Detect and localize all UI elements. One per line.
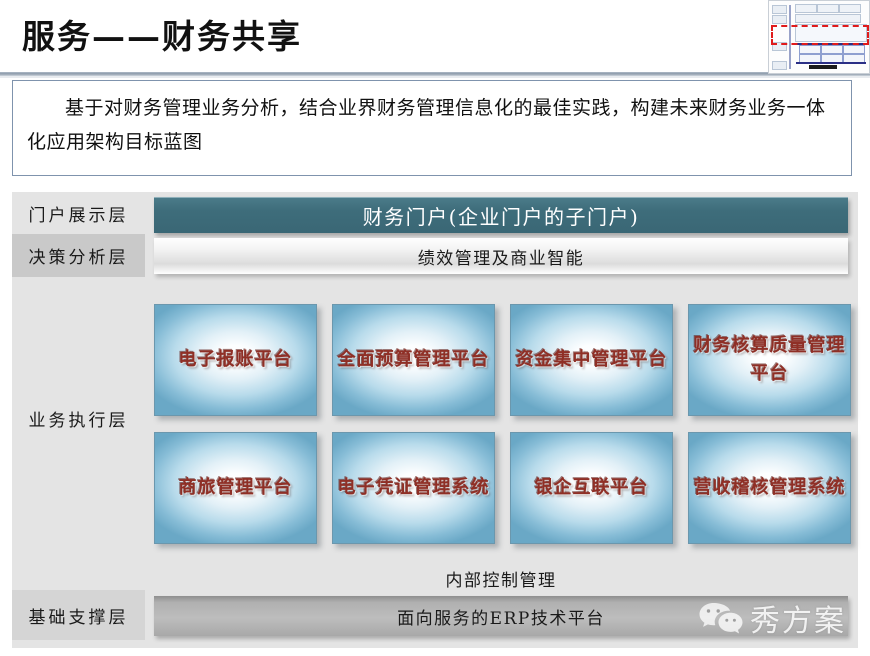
thumbnail-accent bbox=[809, 65, 837, 69]
platform-card[interactable]: 银企互联平台 bbox=[510, 432, 673, 544]
layer-label-business: 业务执行层 bbox=[12, 277, 145, 560]
thumbnail-box bbox=[799, 45, 821, 54]
thumbnail-box bbox=[817, 4, 839, 13]
thumbnail-box bbox=[795, 14, 861, 23]
thumbnail-label bbox=[772, 15, 787, 24]
platform-card[interactable]: 电子报账平台 bbox=[154, 304, 317, 416]
description-box: 基于对财务管理业务分析，结合业界财务管理信息化的最佳实践，构建未来财务业务一体化… bbox=[12, 80, 852, 176]
platform-label: 营收稽核管理系统 bbox=[694, 474, 846, 502]
platform-card[interactable]: 电子凭证管理系统 bbox=[332, 432, 495, 544]
platform-label: 银企互联平台 bbox=[535, 474, 649, 502]
platform-card[interactable]: 资金集中管理平台 bbox=[510, 304, 673, 416]
platform-grid: 电子报账平台 全面预算管理平台 资金集中管理平台 财务核算质量管理平台 商旅管理… bbox=[154, 304, 854, 554]
platform-label: 资金集中管理平台 bbox=[516, 346, 668, 374]
platform-label: 全面预算管理平台 bbox=[338, 346, 490, 374]
thumbnail-box bbox=[795, 4, 817, 13]
platform-label: 电子报账平台 bbox=[179, 346, 293, 374]
slide-preview-thumbnail[interactable] bbox=[768, 0, 870, 74]
platform-card[interactable]: 全面预算管理平台 bbox=[332, 304, 495, 416]
platform-card[interactable]: 营收稽核管理系统 bbox=[688, 432, 851, 544]
layer-label-base: 基础支撑层 bbox=[12, 590, 145, 640]
slide: 服务——财务共享 基于对财务管理业务分析，结合业界财务管理信息化的最佳实践，构建… bbox=[0, 0, 870, 656]
watermark: 秀方案 bbox=[698, 596, 846, 640]
title-divider-shadow bbox=[0, 76, 870, 78]
platform-label: 财务核算质量管理平台 bbox=[689, 332, 850, 388]
thumbnail-label bbox=[772, 61, 787, 70]
thumbnail-box bbox=[821, 45, 843, 54]
platform-card[interactable]: 商旅管理平台 bbox=[154, 432, 317, 544]
architecture-diagram: 门户展示层 决策分析层 业务执行层 基础支撑层 财务门户(企业门户的子门户) 绩… bbox=[12, 192, 858, 648]
layer-label-decision: 决策分析层 bbox=[12, 234, 145, 277]
layer-label-portal: 门户展示层 bbox=[12, 192, 145, 234]
internal-control-bar: 内部控制管理 bbox=[154, 564, 848, 592]
thumbnail-box bbox=[843, 45, 865, 54]
decision-bar[interactable]: 绩效管理及商业智能 bbox=[154, 238, 848, 274]
thumbnail-label bbox=[772, 5, 787, 14]
description-text: 基于对财务管理业务分析，结合业界财务管理信息化的最佳实践，构建未来财务业务一体化… bbox=[27, 91, 837, 159]
platform-label: 商旅管理平台 bbox=[179, 474, 293, 502]
thumbnail-box bbox=[839, 4, 861, 13]
platform-label: 电子凭证管理系统 bbox=[338, 474, 490, 502]
platform-card[interactable]: 财务核算质量管理平台 bbox=[688, 304, 851, 416]
watermark-text: 秀方案 bbox=[750, 596, 846, 640]
portal-bar[interactable]: 财务门户(企业门户的子门户) bbox=[154, 197, 848, 233]
thumbnail-accent bbox=[796, 62, 866, 64]
thumbnail-highlight-box bbox=[771, 25, 869, 45]
wechat-icon bbox=[698, 601, 744, 635]
page-title: 服务——财务共享 bbox=[22, 10, 302, 58]
